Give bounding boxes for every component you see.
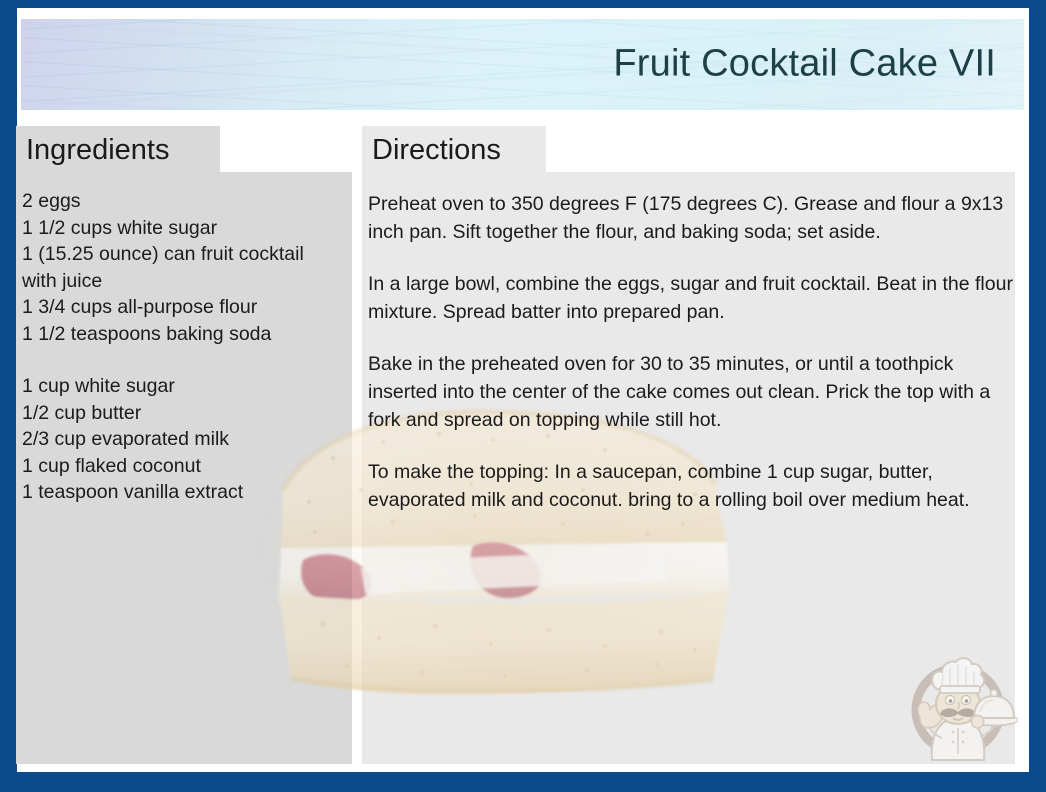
page-title: Fruit Cocktail Cake VII <box>613 42 996 85</box>
list-item: 1 3/4 cups all-purpose flour <box>22 294 344 321</box>
list-item: 1 1/2 cups white sugar <box>22 215 344 242</box>
direction-step: Preheat oven to 350 degrees F (175 degre… <box>368 190 1016 246</box>
list-item: 1/2 cup butter <box>22 400 344 427</box>
ingredient-group: 1 cup white sugar 1/2 cup butter 2/3 cup… <box>22 373 344 506</box>
list-item: 1 teaspoon vanilla extract <box>22 479 344 506</box>
direction-step: Bake in the preheated oven for 30 to 35 … <box>368 350 1016 434</box>
ingredients-heading: Ingredients <box>16 126 220 174</box>
list-item: 1 cup flaked coconut <box>22 453 344 480</box>
recipe-card: Fruit Cocktail Cake VII <box>0 0 1046 792</box>
directions-list: Preheat oven to 350 degrees F (175 degre… <box>368 190 1016 514</box>
list-item: 1 cup white sugar <box>22 373 344 400</box>
direction-step: In a large bowl, combine the eggs, sugar… <box>368 270 1016 326</box>
directions-heading: Directions <box>362 126 546 174</box>
list-item: 1 1/2 teaspoons baking soda <box>22 321 344 348</box>
list-item: 2 eggs <box>22 188 344 215</box>
ingredients-list: 2 eggs 1 1/2 cups white sugar 1 (15.25 o… <box>22 188 344 506</box>
header-banner: Fruit Cocktail Cake VII <box>21 19 1024 110</box>
ingredient-group: 2 eggs 1 1/2 cups white sugar 1 (15.25 o… <box>22 188 344 347</box>
ingredient-group-separator <box>22 347 344 373</box>
list-item: 1 (15.25 ounce) can fruit cocktail with … <box>22 241 344 294</box>
direction-step: To make the topping: In a saucepan, comb… <box>368 458 1016 514</box>
list-item: 2/3 cup evaporated milk <box>22 426 344 453</box>
